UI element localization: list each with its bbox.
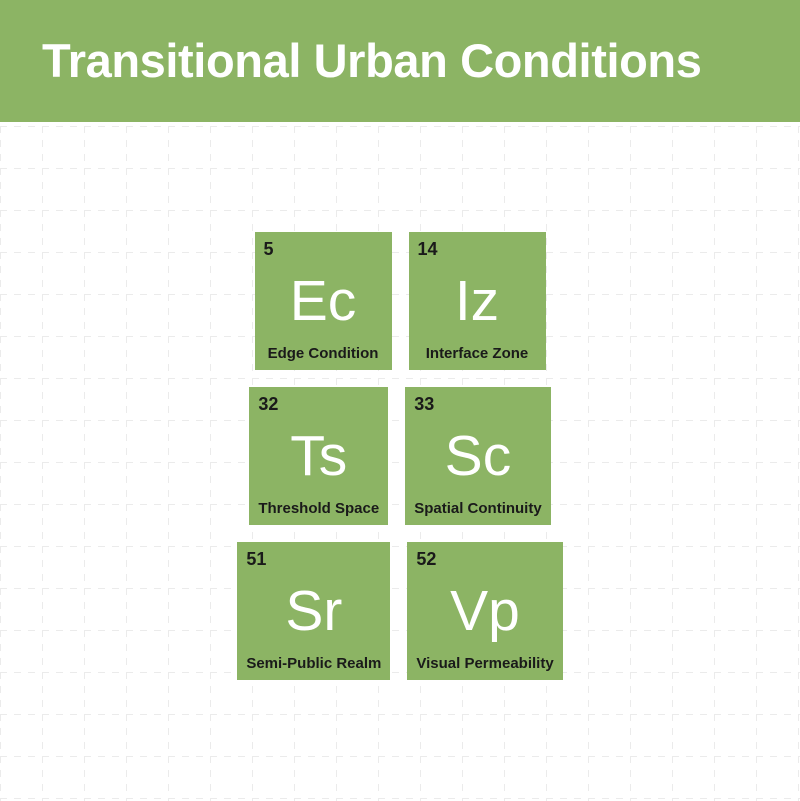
grid-line-horizontal — [0, 756, 800, 757]
atomic-number: 51 — [246, 549, 381, 569]
element-symbol: Ec — [264, 257, 383, 345]
element-name: Interface Zone — [418, 345, 537, 362]
element-name: Visual Permeability — [416, 655, 553, 672]
element-name: Threshold Space — [258, 500, 379, 517]
grid-line-horizontal — [0, 714, 800, 715]
element-symbol: Ts — [258, 412, 379, 500]
tile-row: 51 Sr Semi-Public Realm 52 Vp Visual Per… — [237, 542, 562, 680]
element-tile-ts[interactable]: 32 Ts Threshold Space — [249, 387, 388, 525]
page-title: Transitional Urban Conditions — [42, 0, 701, 122]
grid-line-horizontal — [0, 168, 800, 169]
header-band: Transitional Urban Conditions — [0, 0, 800, 122]
element-tile-grid: 5 Ec Edge Condition 14 Iz Interface Zone… — [0, 232, 800, 680]
atomic-number: 32 — [258, 394, 379, 414]
atomic-number: 33 — [414, 394, 542, 414]
tile-row: 32 Ts Threshold Space 33 Sc Spatial Cont… — [249, 387, 550, 525]
grid-line-horizontal — [0, 126, 800, 127]
element-symbol: Sc — [414, 412, 542, 500]
grid-line-horizontal — [0, 798, 800, 799]
atomic-number: 52 — [416, 549, 553, 569]
tile-row: 5 Ec Edge Condition 14 Iz Interface Zone — [255, 232, 546, 370]
element-tile-vp[interactable]: 52 Vp Visual Permeability — [407, 542, 562, 680]
element-symbol: Sr — [246, 567, 381, 655]
poster-canvas: Transitional Urban Conditions 5 Ec Edge … — [0, 0, 800, 801]
element-name: Edge Condition — [264, 345, 383, 362]
element-tile-iz[interactable]: 14 Iz Interface Zone — [409, 232, 546, 370]
atomic-number: 14 — [418, 239, 537, 259]
grid-line-horizontal — [0, 210, 800, 211]
element-name: Spatial Continuity — [414, 500, 542, 517]
element-symbol: Vp — [416, 567, 553, 655]
element-tile-ec[interactable]: 5 Ec Edge Condition — [255, 232, 392, 370]
element-tile-sc[interactable]: 33 Sc Spatial Continuity — [405, 387, 551, 525]
element-tile-sr[interactable]: 51 Sr Semi-Public Realm — [237, 542, 390, 680]
element-symbol: Iz — [418, 257, 537, 345]
element-name: Semi-Public Realm — [246, 655, 381, 672]
atomic-number: 5 — [264, 239, 383, 259]
